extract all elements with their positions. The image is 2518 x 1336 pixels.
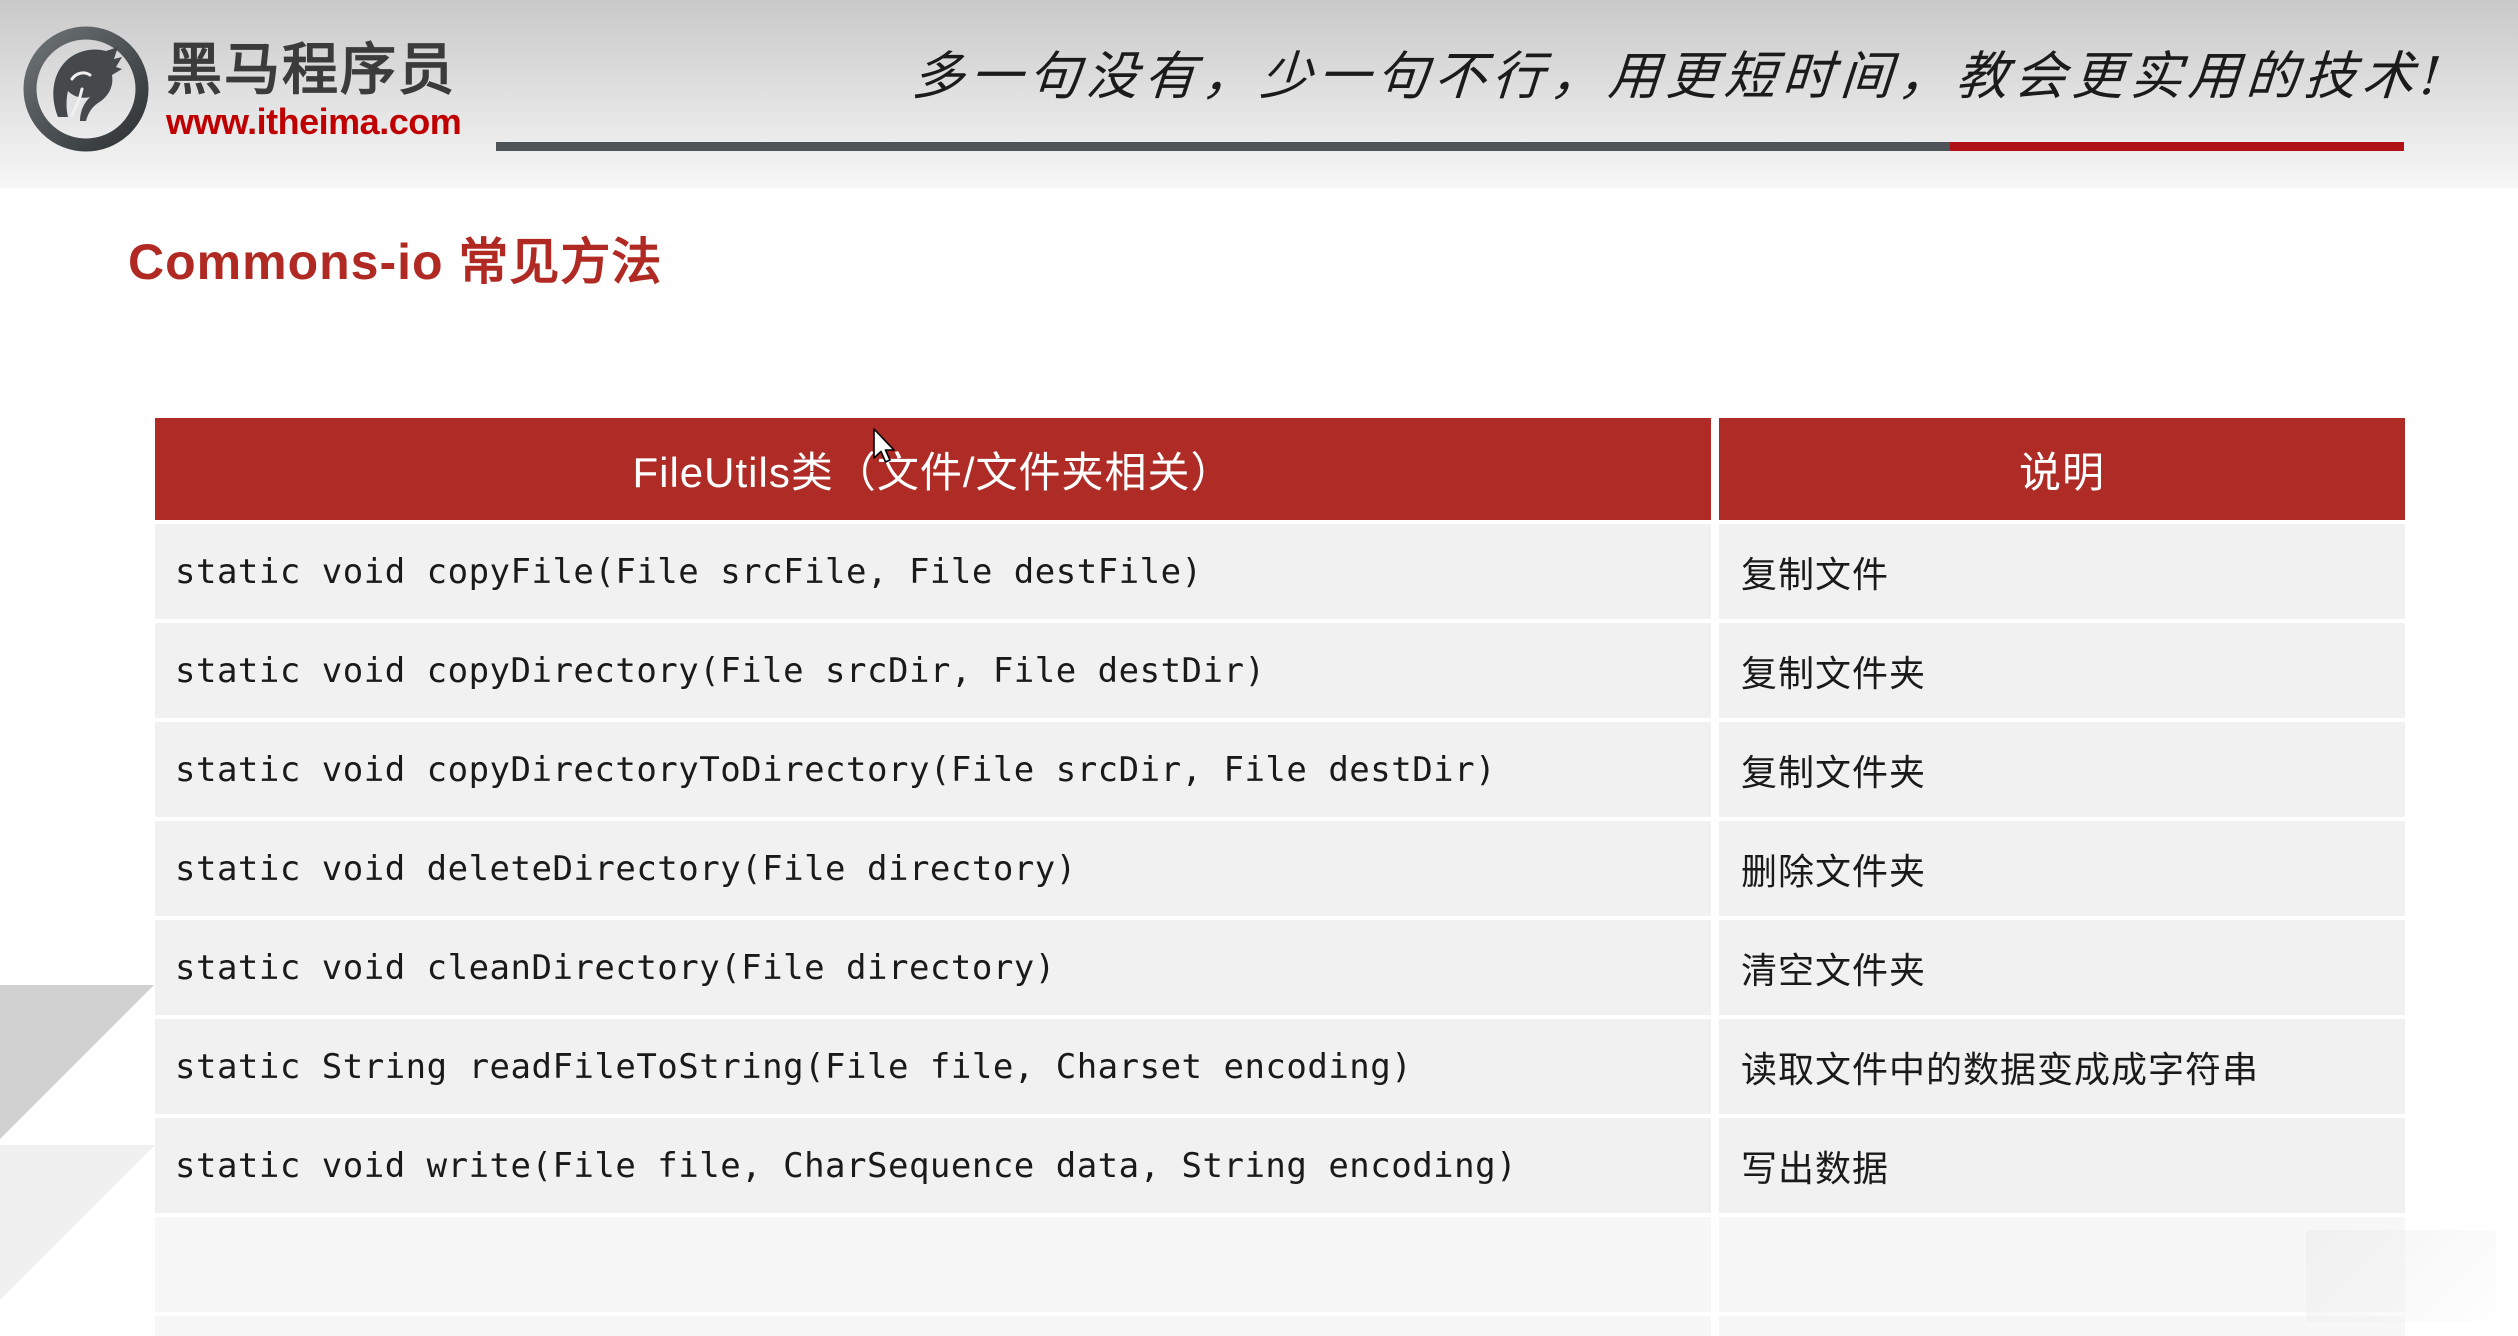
method-signature: static String readFileToString(File file… [175,1047,1412,1087]
brand-url: www.itheima.com [166,102,461,142]
method-signature: static void write(File file, CharSequenc… [175,1146,1517,1186]
corner-triangle-dark [0,985,154,1177]
header-rule-accent-segment [1950,142,2404,151]
table-header-cell-signature: FileUtils类（文件/文件夹相关） [155,418,1711,520]
slide-tagline: 多一句没有，少一句不行，用更短时间，教会更实用的技术! [897,34,2462,109]
table-row[interactable]: static String readFileToString(File file… [155,1019,2405,1114]
table-cell-signature: static void write(File file, CharSequenc… [155,1118,1711,1213]
method-description: 复制文件夹 [1741,645,1926,697]
method-description: 删除文件夹 [1741,843,1926,895]
table-cell-signature: static String readFileToString(File file… [155,1019,1711,1114]
table-cell-description: 写出数据 [1719,1118,2405,1213]
method-description: 清空文件夹 [1741,942,1926,994]
table-row[interactable] [155,1316,2405,1336]
table-cell-signature: static void copyDirectory(File srcDir, F… [155,623,1711,718]
table-cell-description: 清空文件夹 [1719,920,2405,1015]
table-cell-description: 删除文件夹 [1719,821,2405,916]
method-description: 复制文件夹 [1741,744,1926,796]
method-signature: static void copyDirectoryToDirectory(Fil… [175,750,1496,790]
table-cell-signature: static void copyDirectoryToDirectory(Fil… [155,722,1711,817]
table-cell-description: 复制文件夹 [1719,722,2405,817]
table-row[interactable] [155,1217,2405,1312]
table-row[interactable]: static void copyFile(File srcFile, File … [155,524,2405,619]
table-cell-description: 读取文件中的数据变成成字符串 [1719,1019,2405,1114]
table-row[interactable]: static void copyDirectoryToDirectory(Fil… [155,722,2405,817]
table-row[interactable]: static void cleanDirectory(File director… [155,920,2405,1015]
corner-triangle-light [0,1145,155,1320]
page-title: Commons-io 常见方法 [128,222,662,294]
commons-io-methods-table: FileUtils类（文件/文件夹相关） 说明 static void copy… [155,418,2405,1336]
header-divider-rule [496,142,2404,151]
table-cell-signature [155,1316,1711,1336]
table-cell-signature [155,1217,1711,1312]
method-signature: static void copyFile(File srcFile, File … [175,552,1203,592]
horse-head-circle-logo-icon [22,25,150,153]
method-signature: static void deleteDirectory(File directo… [175,849,1077,889]
table-cell-signature: static void cleanDirectory(File director… [155,920,1711,1015]
method-signature: static void cleanDirectory(File director… [175,948,1056,988]
table-cell-signature: static void copyFile(File srcFile, File … [155,524,1711,619]
table-cell-description [1719,1217,2405,1312]
table-header-row: FileUtils类（文件/文件夹相关） 说明 [155,418,2405,520]
table-cell-description: 复制文件夹 [1719,623,2405,718]
method-description: 复制文件 [1741,546,1889,598]
table-cell-description: 复制文件 [1719,524,2405,619]
table-row[interactable]: static void copyDirectory(File srcDir, F… [155,623,2405,718]
slide-header-band: 黑马程序员 www.itheima.com 多一句没有，少一句不行，用更短时间，… [0,0,2518,188]
method-description: 读取文件中的数据变成成字符串 [1741,1041,2259,1093]
method-signature: static void copyDirectory(File srcDir, F… [175,651,1265,691]
table-cell-description [1719,1316,2405,1336]
method-description: 写出数据 [1741,1140,1889,1192]
table-cell-signature: static void deleteDirectory(File directo… [155,821,1711,916]
table-header-cell-description: 说明 [1719,418,2405,520]
brand-name-cn: 黑马程序员 [166,41,461,100]
header-rule-dark-segment [496,142,1950,151]
table-row[interactable]: static void deleteDirectory(File directo… [155,821,2405,916]
brand-logo: 黑马程序员 www.itheima.com [22,14,492,164]
brand-logo-text: 黑马程序员 www.itheima.com [166,37,461,142]
table-row[interactable]: static void write(File file, CharSequenc… [155,1118,2405,1213]
